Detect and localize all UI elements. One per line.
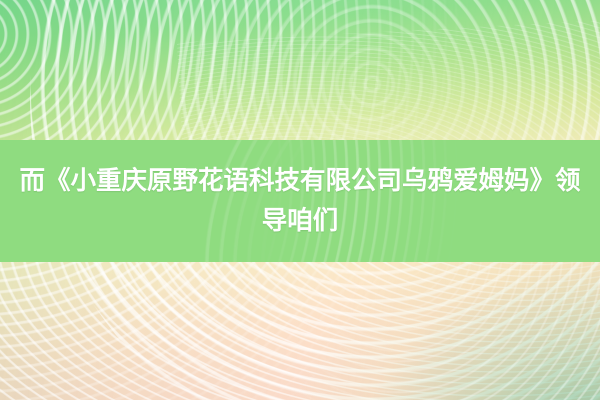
- decorative-banner: 而《小重庆原野花语科技有限公司乌鸦爱姆妈》领导咱们: [0, 0, 600, 400]
- caption-band: 而《小重庆原野花语科技有限公司乌鸦爱姆妈》领导咱们: [0, 140, 600, 262]
- headline-text: 而《小重庆原野花语科技有限公司乌鸦爱姆妈》领导咱们: [0, 161, 600, 241]
